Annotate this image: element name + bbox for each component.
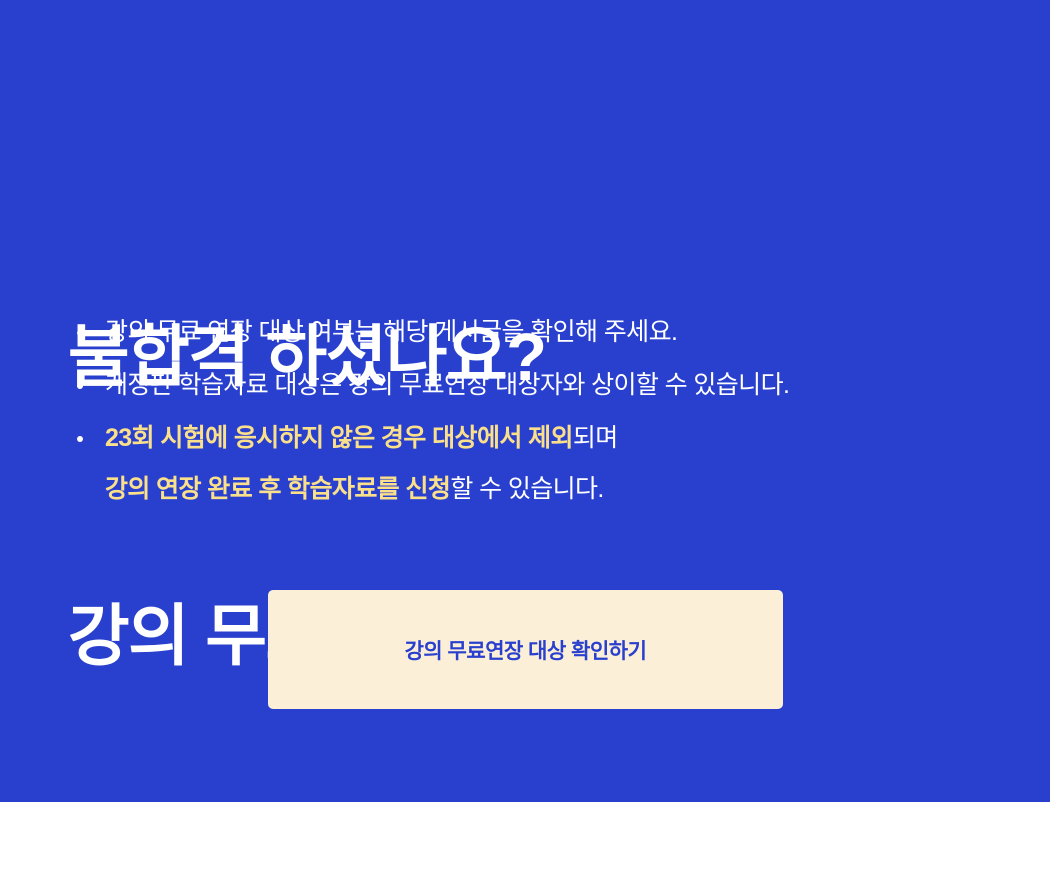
bullet-segment: 되며	[573, 424, 618, 452]
check-eligibility-button[interactable]: 강의 무료연장 대상 확인하기	[268, 590, 783, 709]
bullet-dot-icon	[77, 436, 83, 442]
list-item: 강의 무료 연장 대상 여부는 해당 게시글을 확인해 주세요.	[68, 315, 1008, 350]
list-item: 개정판 학습자료 대상은 강의 무료연장 대상자와 상이할 수 있습니다.	[68, 368, 1008, 403]
bullet-segment: 개정판 학습자료 대상은 강의 무료연장 대상자와 상이할 수 있습니다.	[105, 371, 789, 399]
bullet-dot-icon	[77, 383, 83, 389]
notice-bullet-list: 강의 무료 연장 대상 여부는 해당 게시글을 확인해 주세요. 개정판 학습자…	[68, 315, 1008, 507]
bullet-text-line: 강의 연장 완료 후 학습자료를 신청할 수 있습니다.	[105, 472, 1008, 507]
promo-banner: 불합격 하셨나요? 강의 무료연장 안내 강의 무료 연장 대상 여부는 해당 …	[0, 0, 1050, 802]
list-item: 23회 시험에 응시하지 않은 경우 대상에서 제외되며 강의 연장 완료 후 …	[68, 421, 1008, 507]
bullet-segment: 강의 무료 연장 대상 여부는 해당 게시글을 확인해 주세요.	[105, 318, 677, 346]
bullet-text-line: 23회 시험에 응시하지 않은 경우 대상에서 제외되며	[105, 421, 1008, 456]
bullet-dot-icon	[77, 330, 83, 336]
bullet-segment: 할 수 있습니다.	[450, 475, 603, 503]
bullet-segment-emphasis: 23회 시험에 응시하지 않은 경우 대상에서 제외	[105, 424, 573, 452]
bullet-text-line: 강의 무료 연장 대상 여부는 해당 게시글을 확인해 주세요.	[105, 315, 1008, 350]
bullet-segment-emphasis: 강의 연장 완료 후 학습자료를 신청	[105, 475, 450, 503]
bullet-text-line: 개정판 학습자료 대상은 강의 무료연장 대상자와 상이할 수 있습니다.	[105, 368, 1008, 403]
